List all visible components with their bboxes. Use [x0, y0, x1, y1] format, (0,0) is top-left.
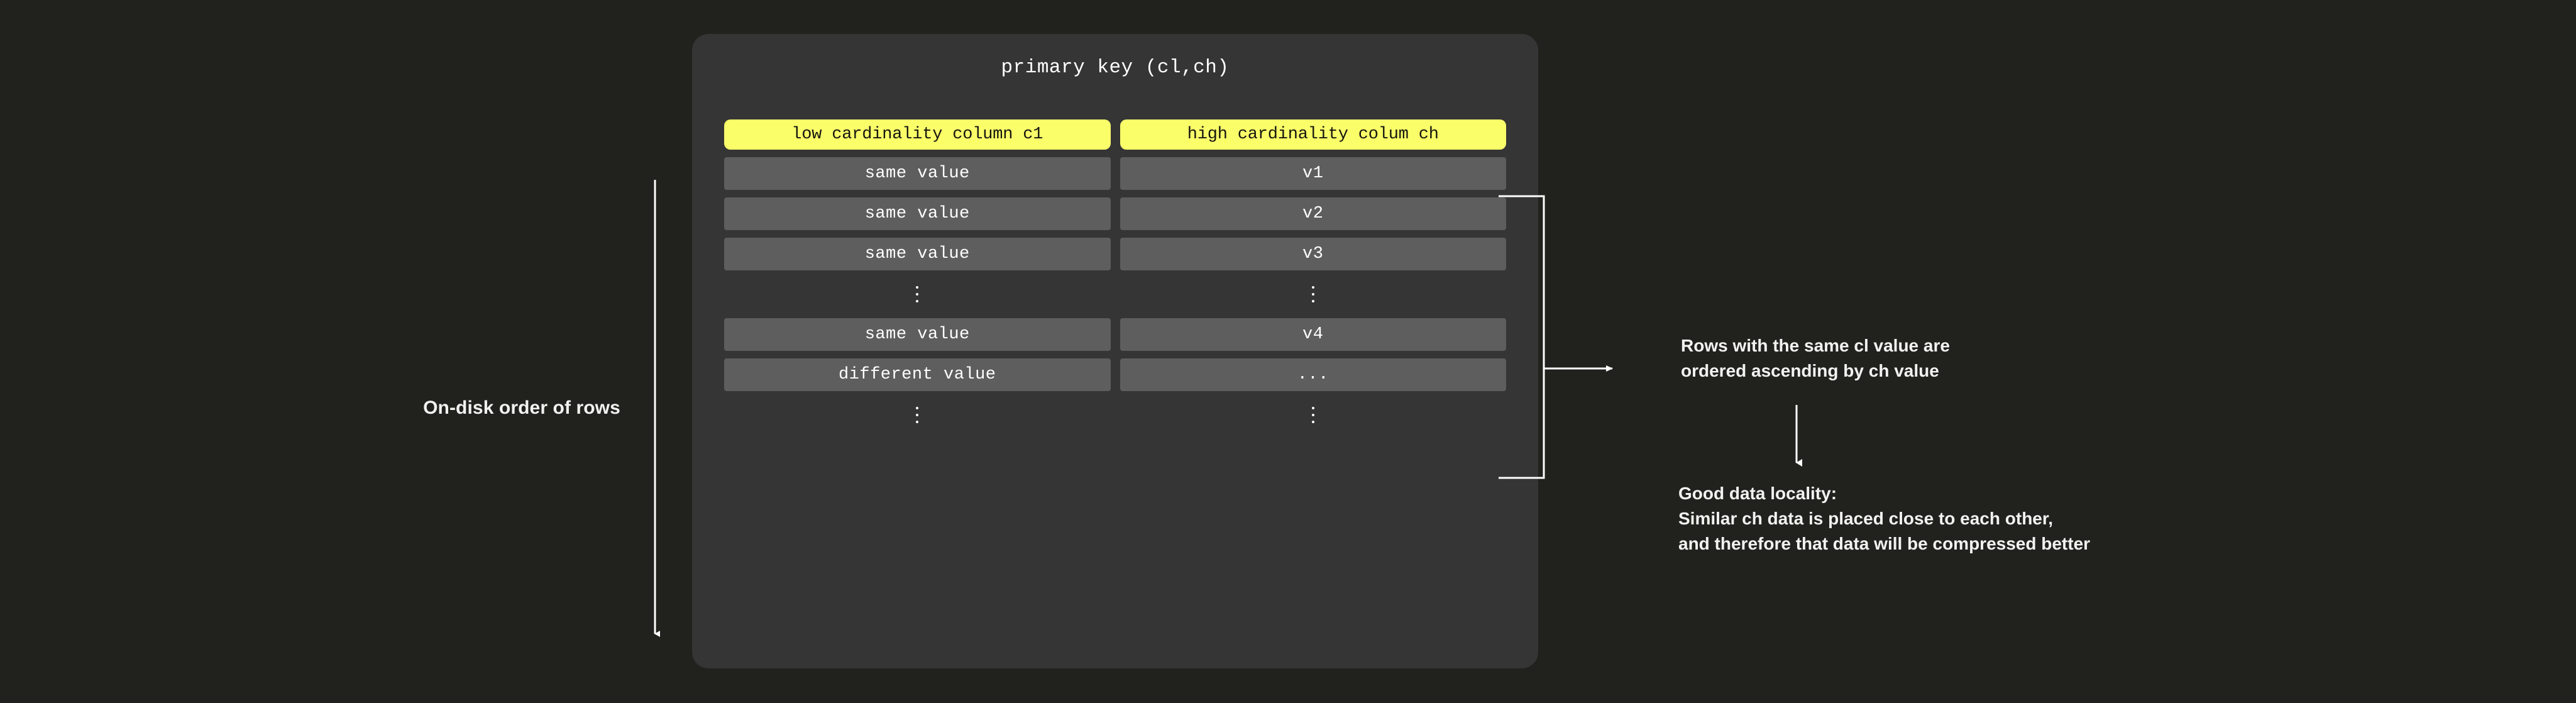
primary-key-card: primary key (cl,ch) low cardinality colu…: [692, 34, 1538, 668]
cell-c1-row2: same value: [724, 197, 1111, 230]
vertical-ellipsis-icon: [724, 278, 1111, 311]
cell-ch-row5: ...: [1120, 358, 1507, 391]
diagram-canvas: On-disk order of rows primary key (cl,ch…: [0, 0, 2576, 703]
vertical-ellipsis-icon: [1120, 399, 1507, 431]
columns-grid: low cardinality column c1 same value sam…: [724, 119, 1506, 431]
cell-ch-row2: v2: [1120, 197, 1507, 230]
annotation-data-locality: Good data locality: Similar ch data is p…: [1678, 481, 2282, 556]
cell-ch-row3: v3: [1120, 238, 1507, 270]
column-header-c1: low cardinality column c1: [724, 119, 1111, 150]
cell-ch-row1: v1: [1120, 157, 1507, 190]
column-header-ch: high cardinality colum ch: [1120, 119, 1507, 150]
column-low-cardinality: low cardinality column c1 same value sam…: [724, 119, 1111, 431]
cell-c1-row3: same value: [724, 238, 1111, 270]
column-high-cardinality: high cardinality colum ch v1 v2 v3 v4 ..…: [1120, 119, 1507, 431]
vertical-ellipsis-icon: [724, 399, 1111, 431]
cell-ch-row4: v4: [1120, 318, 1507, 351]
vertical-ellipsis-icon: [1120, 278, 1507, 311]
annotation-ordering: Rows with the same cl value are ordered …: [1681, 333, 2133, 384]
on-disk-order-label: On-disk order of rows: [409, 397, 635, 419]
cell-c1-row1: same value: [724, 157, 1111, 190]
cell-c1-row5: different value: [724, 358, 1111, 391]
on-disk-order-arrow: [629, 176, 685, 645]
annotation-connector-arrow: [1766, 402, 1829, 478]
page-title: primary key (cl,ch): [692, 57, 1538, 79]
cell-c1-row4: same value: [724, 318, 1111, 351]
row-group-bracket: [1496, 182, 1678, 497]
